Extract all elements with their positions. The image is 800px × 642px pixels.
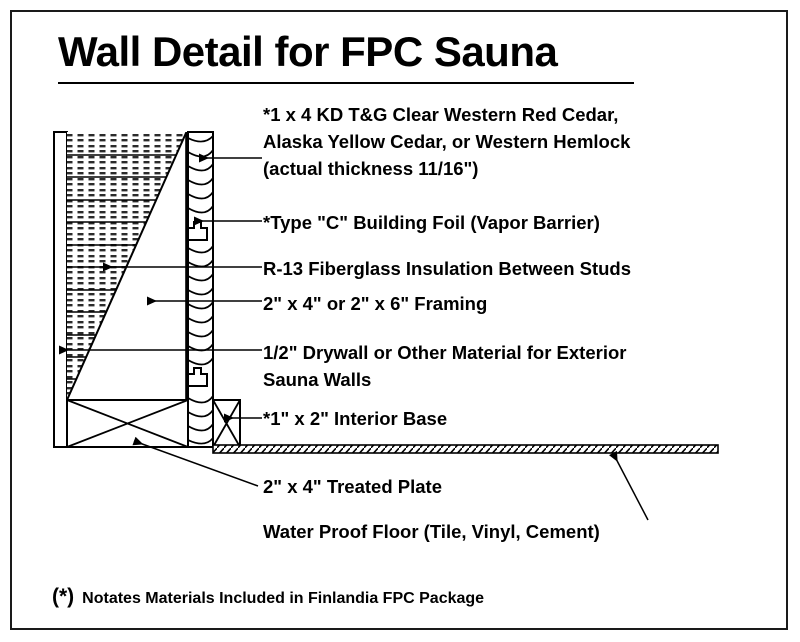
footnote-text: Notates Materials Included in Finlandia …	[82, 590, 484, 607]
callout-drywall: 1/2" Drywall or Other Material for Exter…	[263, 339, 626, 393]
cedar-tongue-groove-siding	[188, 132, 213, 447]
callout-vapor-barrier: *Type "C" Building Foil (Vapor Barrier)	[263, 209, 600, 236]
callout-insulation: R-13 Fiberglass Insulation Between Studs	[263, 255, 631, 282]
callout-treated-plate: 2" x 4" Treated Plate	[263, 473, 442, 500]
drywall-layer	[54, 132, 67, 447]
1x2-interior-base	[213, 400, 240, 447]
2x4-treated-plate	[67, 400, 188, 447]
leader-waterproof-floor	[613, 453, 648, 520]
callout-framing: 2" x 4" or 2" x 6" Framing	[263, 290, 487, 317]
wall-section-drawing	[0, 0, 800, 642]
callout-cedar-siding: *1 x 4 KD T&G Clear Western Red Cedar, A…	[263, 101, 630, 182]
footnote: (*)Notates Materials Included in Finland…	[52, 585, 484, 609]
wall-detail-page: Wall Detail for FPC Sauna	[0, 0, 800, 642]
callout-interior-base: *1" x 2" Interior Base	[263, 405, 447, 432]
footnote-marker: (*)	[52, 585, 74, 608]
waterproof-floor-band	[213, 445, 718, 453]
callout-waterproof-floor: Water Proof Floor (Tile, Vinyl, Cement)	[263, 518, 600, 545]
